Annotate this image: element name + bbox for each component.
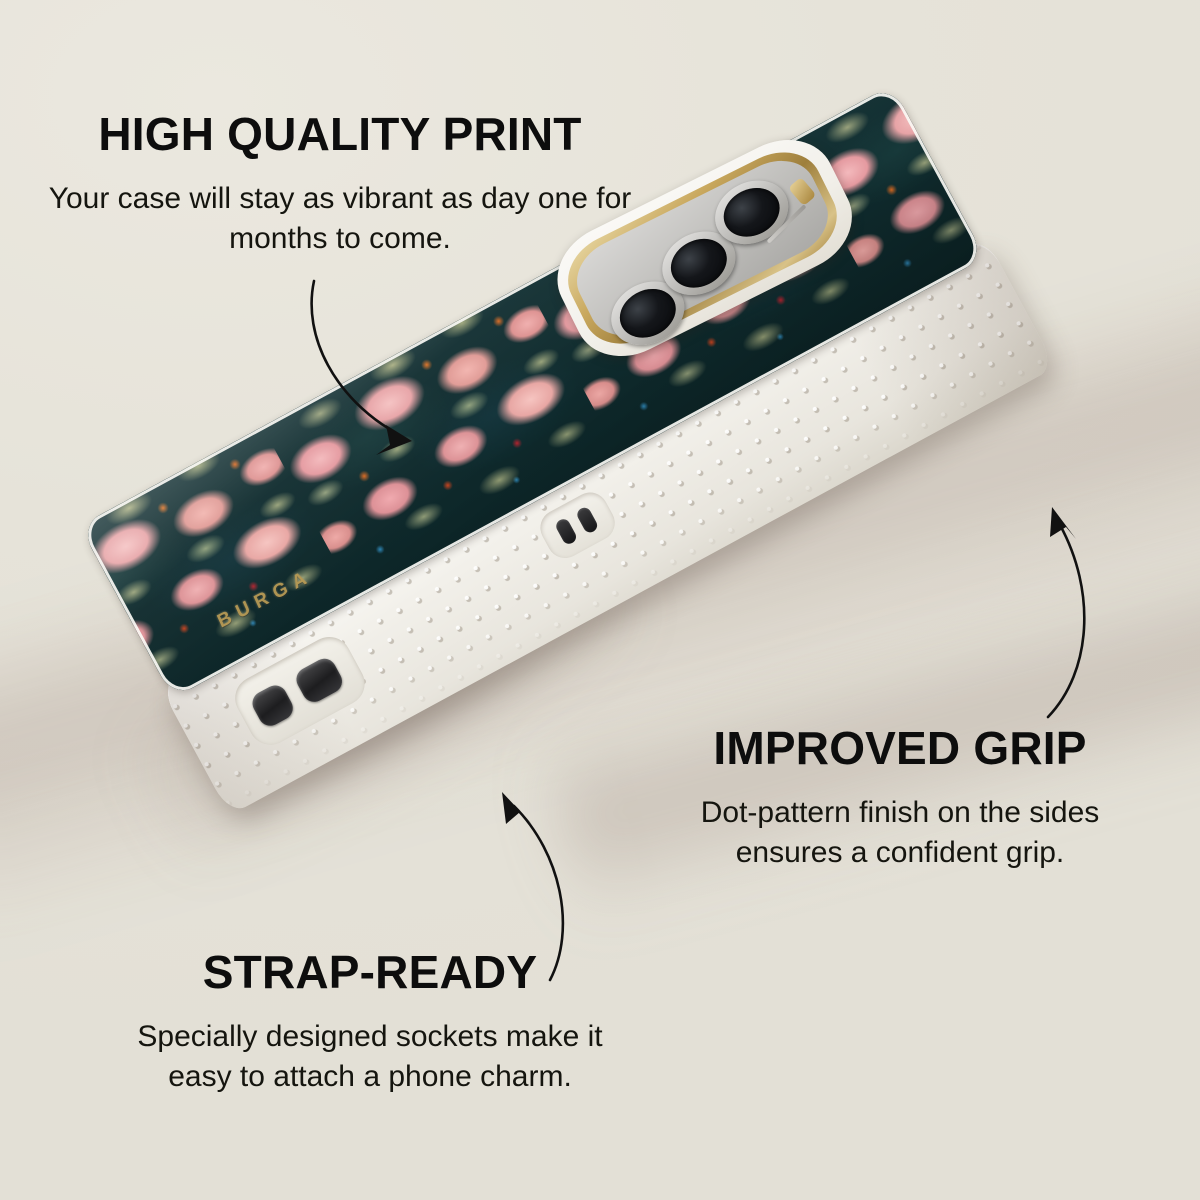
feature-body: Specially designed sockets make it easy … bbox=[110, 1017, 630, 1097]
strap-socket-left bbox=[248, 681, 297, 730]
feature-high-quality-print: HIGH QUALITY PRINT Your case will stay a… bbox=[40, 110, 640, 259]
feature-title: IMPROVED GRIP bbox=[660, 724, 1140, 773]
feature-improved-grip: IMPROVED GRIP Dot-pattern finish on the … bbox=[660, 724, 1140, 873]
strap-socket-right bbox=[292, 655, 346, 707]
charm-socket-left bbox=[554, 517, 579, 547]
scene: BURGA HIGH QUALITY PRINT Your case will … bbox=[0, 0, 1200, 1200]
curved-arrow-up-left-icon bbox=[478, 778, 628, 988]
charm-socket-right bbox=[575, 505, 600, 535]
feature-body: Dot-pattern finish on the sides ensures … bbox=[660, 793, 1140, 873]
camera-flash-icon bbox=[788, 177, 817, 206]
curved-arrow-down-right-icon bbox=[290, 275, 450, 465]
curved-arrow-up-left-icon bbox=[1000, 485, 1150, 725]
feature-title: HIGH QUALITY PRINT bbox=[40, 110, 640, 159]
feature-body: Your case will stay as vibrant as day on… bbox=[40, 179, 640, 259]
